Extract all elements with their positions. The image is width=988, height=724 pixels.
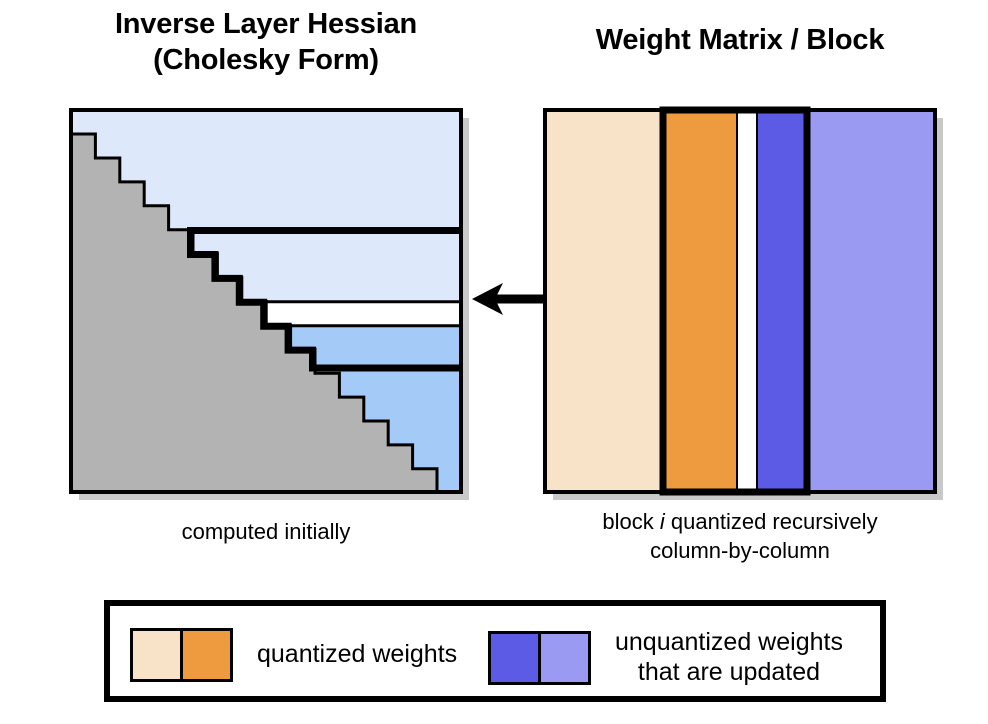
weight-column-block-unquantized bbox=[757, 110, 807, 492]
right-panel-caption: block i quantized recursively column-by-… bbox=[530, 508, 950, 565]
legend-swatch-pair-unquantized bbox=[488, 631, 591, 685]
left-panel-caption: computed initially bbox=[66, 518, 466, 547]
legend-swatch-pair-quantized bbox=[130, 628, 233, 682]
right-weight-matrix bbox=[545, 110, 943, 500]
legend-label-quantized: quantized weights bbox=[257, 640, 457, 670]
legend-swatch-quantized-orange bbox=[180, 631, 230, 679]
weight-column-current-column bbox=[737, 110, 757, 492]
weight-column-already-quantized bbox=[545, 110, 663, 492]
legend-label-unquantized: unquantized weights that are updated bbox=[615, 628, 843, 687]
right-caption-line1: block i quantized recursively bbox=[602, 509, 877, 534]
right-caption-post: quantized recursively bbox=[665, 509, 878, 534]
legend-item-quantized: quantized weights bbox=[130, 628, 457, 682]
weight-column-future-unquantized bbox=[807, 110, 935, 492]
left-hessian-matrix bbox=[71, 110, 469, 500]
legend-swatch-unquantized-light-blue bbox=[538, 634, 588, 682]
right-caption-line2: column-by-column bbox=[650, 538, 830, 563]
weight-column-current-block-quantized bbox=[663, 110, 737, 492]
figure-root: Inverse Layer Hessian (Cholesky Form) We… bbox=[0, 0, 988, 724]
hessian-block-white-row bbox=[266, 302, 461, 326]
legend-swatch-unquantized-blue bbox=[491, 634, 538, 682]
right-caption-pre: block bbox=[602, 509, 659, 534]
legend-item-unquantized: unquantized weights that are updated bbox=[488, 628, 843, 687]
legend: quantized weights unquantized weights th… bbox=[104, 600, 886, 702]
legend-swatch-quantized-light bbox=[133, 631, 180, 679]
